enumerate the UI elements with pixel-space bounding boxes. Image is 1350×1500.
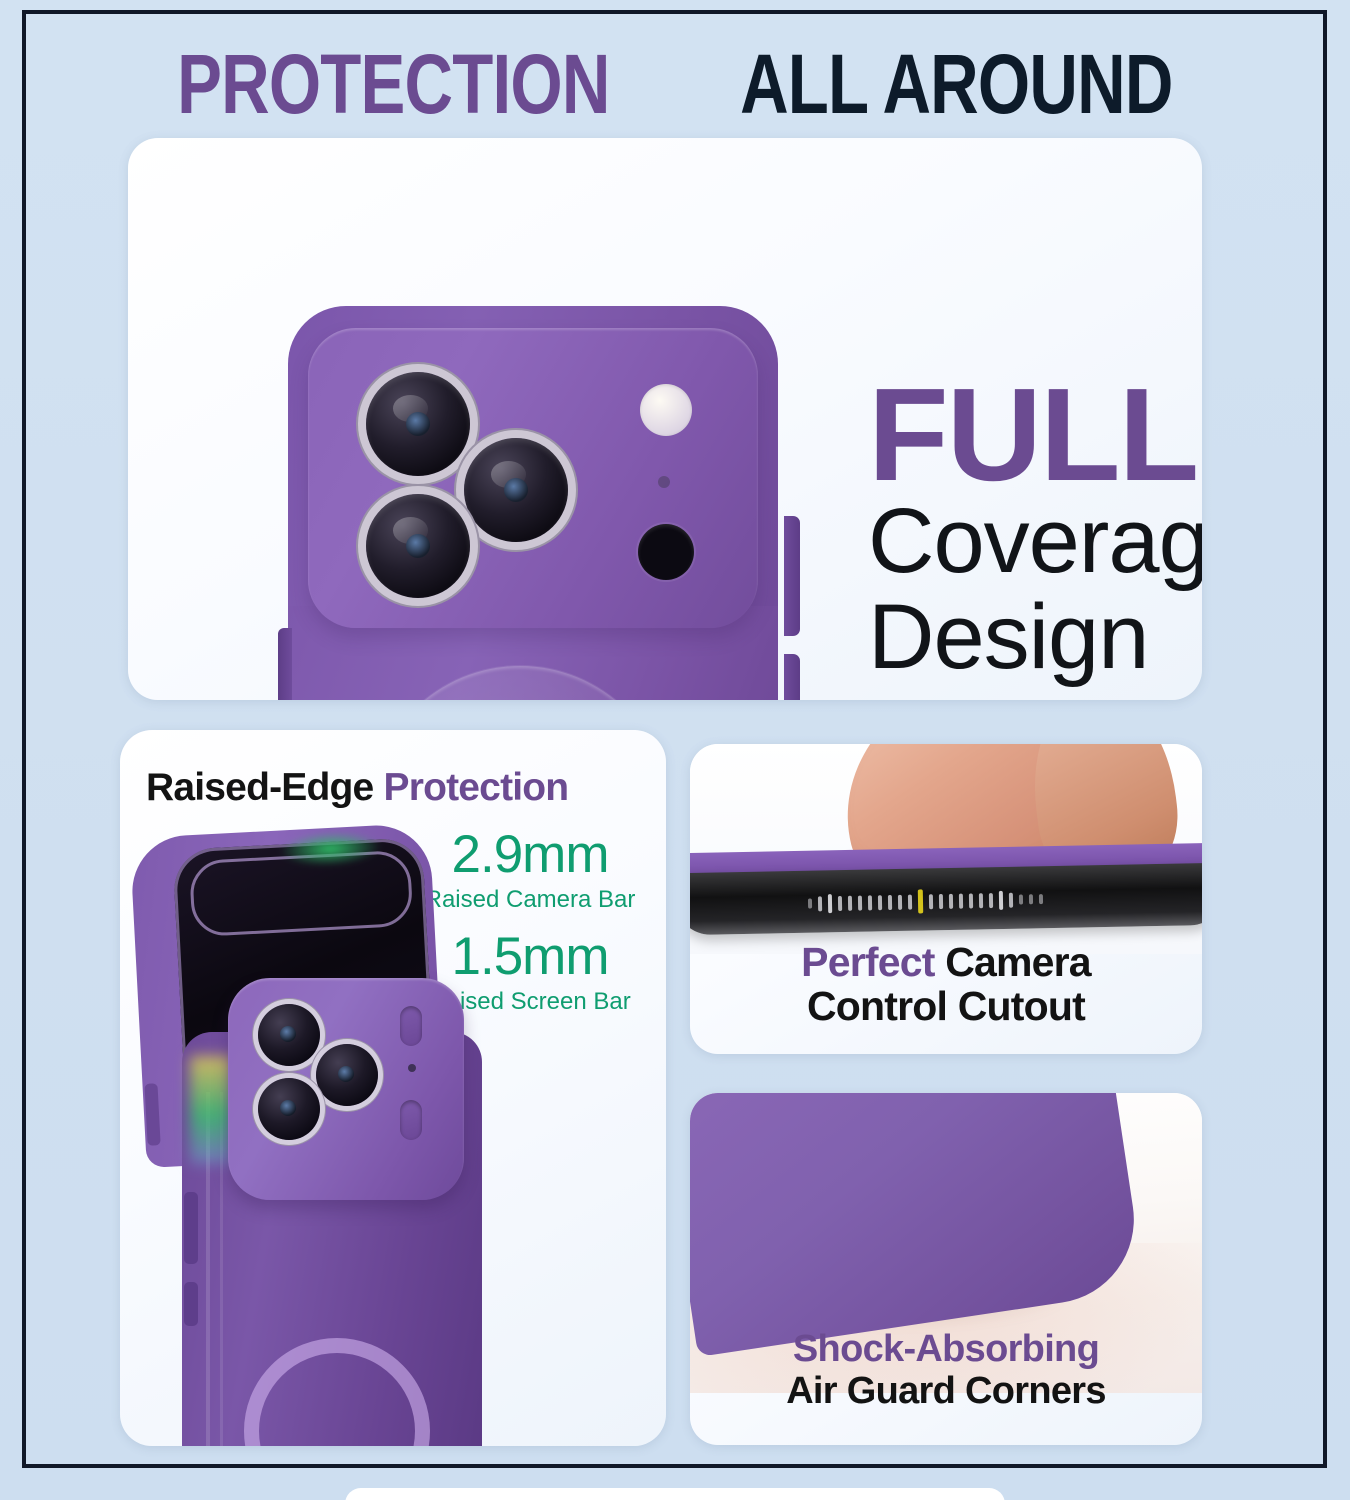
slider-tick bbox=[979, 893, 983, 908]
raised-edge-title-accent: Protection bbox=[383, 766, 568, 809]
hero-case-image bbox=[278, 306, 798, 700]
camera-lens-icon bbox=[258, 1078, 320, 1140]
camera-control-card: Perfect Camera Control Cutout bbox=[690, 744, 1202, 1054]
slider-tick bbox=[1039, 894, 1043, 904]
slider-tick bbox=[949, 893, 953, 908]
screen-green-glow bbox=[280, 829, 382, 868]
slider-tick bbox=[1029, 894, 1033, 904]
next-section-card-peek bbox=[345, 1488, 1005, 1500]
phone-back-raised-camera-image bbox=[182, 978, 602, 1446]
slider-active-indicator bbox=[918, 889, 923, 913]
caption-accent: Perfect bbox=[801, 939, 934, 985]
case-button-right-upper bbox=[784, 516, 800, 636]
slider-tick bbox=[888, 894, 892, 909]
spec-camera-bar: 2.9mm Raised Camera Bar bbox=[412, 828, 648, 914]
caption-dark: Air Guard Corners bbox=[690, 1371, 1202, 1413]
slider-tick bbox=[848, 895, 852, 910]
slider-tick bbox=[818, 896, 822, 911]
slider-tick bbox=[929, 894, 933, 909]
slider-tick bbox=[959, 893, 963, 908]
camera-plateau bbox=[308, 328, 758, 628]
lens-iris bbox=[338, 1066, 354, 1082]
slider-tick bbox=[908, 894, 912, 909]
raised-edge-title-dark: Raised-Edge bbox=[146, 766, 373, 809]
lens-iris bbox=[280, 1026, 296, 1042]
air-guard-card: Shock-Absorbing Air Guard Corners bbox=[690, 1093, 1202, 1445]
camera-control-image bbox=[690, 744, 1202, 954]
camera-lens-icon bbox=[366, 372, 470, 476]
spec-value: 1.5mm bbox=[412, 930, 648, 983]
caption-accent: Shock-Absorbing bbox=[690, 1329, 1202, 1371]
caption-dark: Camera bbox=[945, 939, 1091, 985]
slider-tick bbox=[999, 890, 1003, 909]
hero-card: FULL Coverage Design bbox=[128, 138, 1202, 700]
camera-lens-icon bbox=[464, 438, 568, 542]
hero-title-line3: Design bbox=[868, 591, 1202, 685]
slider-tick bbox=[868, 895, 872, 910]
spec-label: Raised Camera Bar bbox=[412, 886, 648, 914]
slider-tick bbox=[838, 895, 842, 910]
slider-tick bbox=[898, 894, 902, 909]
page-title-accent: PROTECTION bbox=[177, 36, 610, 133]
case-side-button-lower bbox=[184, 1282, 198, 1326]
slider-tick bbox=[808, 899, 812, 909]
raised-edge-title: Raised-Edge Protection bbox=[146, 766, 646, 810]
spec-value: 2.9mm bbox=[412, 828, 648, 881]
color-reflection-strip bbox=[190, 1056, 232, 1164]
microphone-icon bbox=[408, 1064, 416, 1072]
lens-iris bbox=[406, 534, 431, 559]
case-button-left bbox=[278, 628, 292, 700]
slider-tick bbox=[1009, 892, 1013, 907]
slider-tick bbox=[969, 893, 973, 908]
flash-icon bbox=[640, 384, 692, 436]
hero-title-accent: FULL bbox=[868, 374, 1202, 495]
title-space bbox=[666, 36, 684, 133]
page-title: PROTECTION ALL AROUND bbox=[0, 36, 1350, 133]
title-space bbox=[373, 766, 383, 809]
camera-lens-icon bbox=[316, 1044, 378, 1106]
flash-cutout-icon bbox=[400, 1006, 422, 1046]
camera-lens-icon bbox=[258, 1004, 320, 1066]
raised-camera-bar bbox=[228, 978, 464, 1200]
lens-iris bbox=[504, 478, 529, 503]
case-button-right-lower bbox=[784, 654, 800, 700]
lidar-cutout-icon bbox=[400, 1100, 422, 1140]
case-side-button-upper bbox=[184, 1192, 198, 1264]
microphone-icon bbox=[658, 476, 670, 488]
magsafe-ring-outline bbox=[244, 1338, 430, 1446]
slider-tick bbox=[1019, 894, 1023, 904]
caption-line-1: Perfect Camera bbox=[690, 940, 1202, 984]
hero-text-block: FULL Coverage Design bbox=[868, 374, 1202, 685]
camera-lens-icon bbox=[366, 494, 470, 598]
slider-tick bbox=[858, 895, 862, 910]
air-guard-caption: Shock-Absorbing Air Guard Corners bbox=[690, 1329, 1202, 1413]
caption-space bbox=[935, 939, 946, 985]
raised-edge-card: Raised-Edge Protection 2.9mm Raised Came… bbox=[120, 730, 666, 1446]
slider-tick bbox=[828, 894, 832, 913]
camera-control-caption: Perfect Camera Control Cutout bbox=[690, 940, 1202, 1029]
lidar-sensor-icon bbox=[638, 524, 694, 580]
lens-iris bbox=[406, 412, 431, 437]
hero-title-line2: Coverage bbox=[868, 495, 1202, 589]
page-title-secondary: ALL AROUND bbox=[740, 36, 1173, 133]
infographic-page: PROTECTION ALL AROUND bbox=[0, 0, 1350, 1500]
lens-iris bbox=[280, 1100, 296, 1116]
caption-line-2: Control Cutout bbox=[690, 984, 1202, 1028]
slider-tick bbox=[989, 893, 993, 908]
slider-tick bbox=[878, 895, 882, 910]
slider-tick bbox=[939, 894, 943, 909]
